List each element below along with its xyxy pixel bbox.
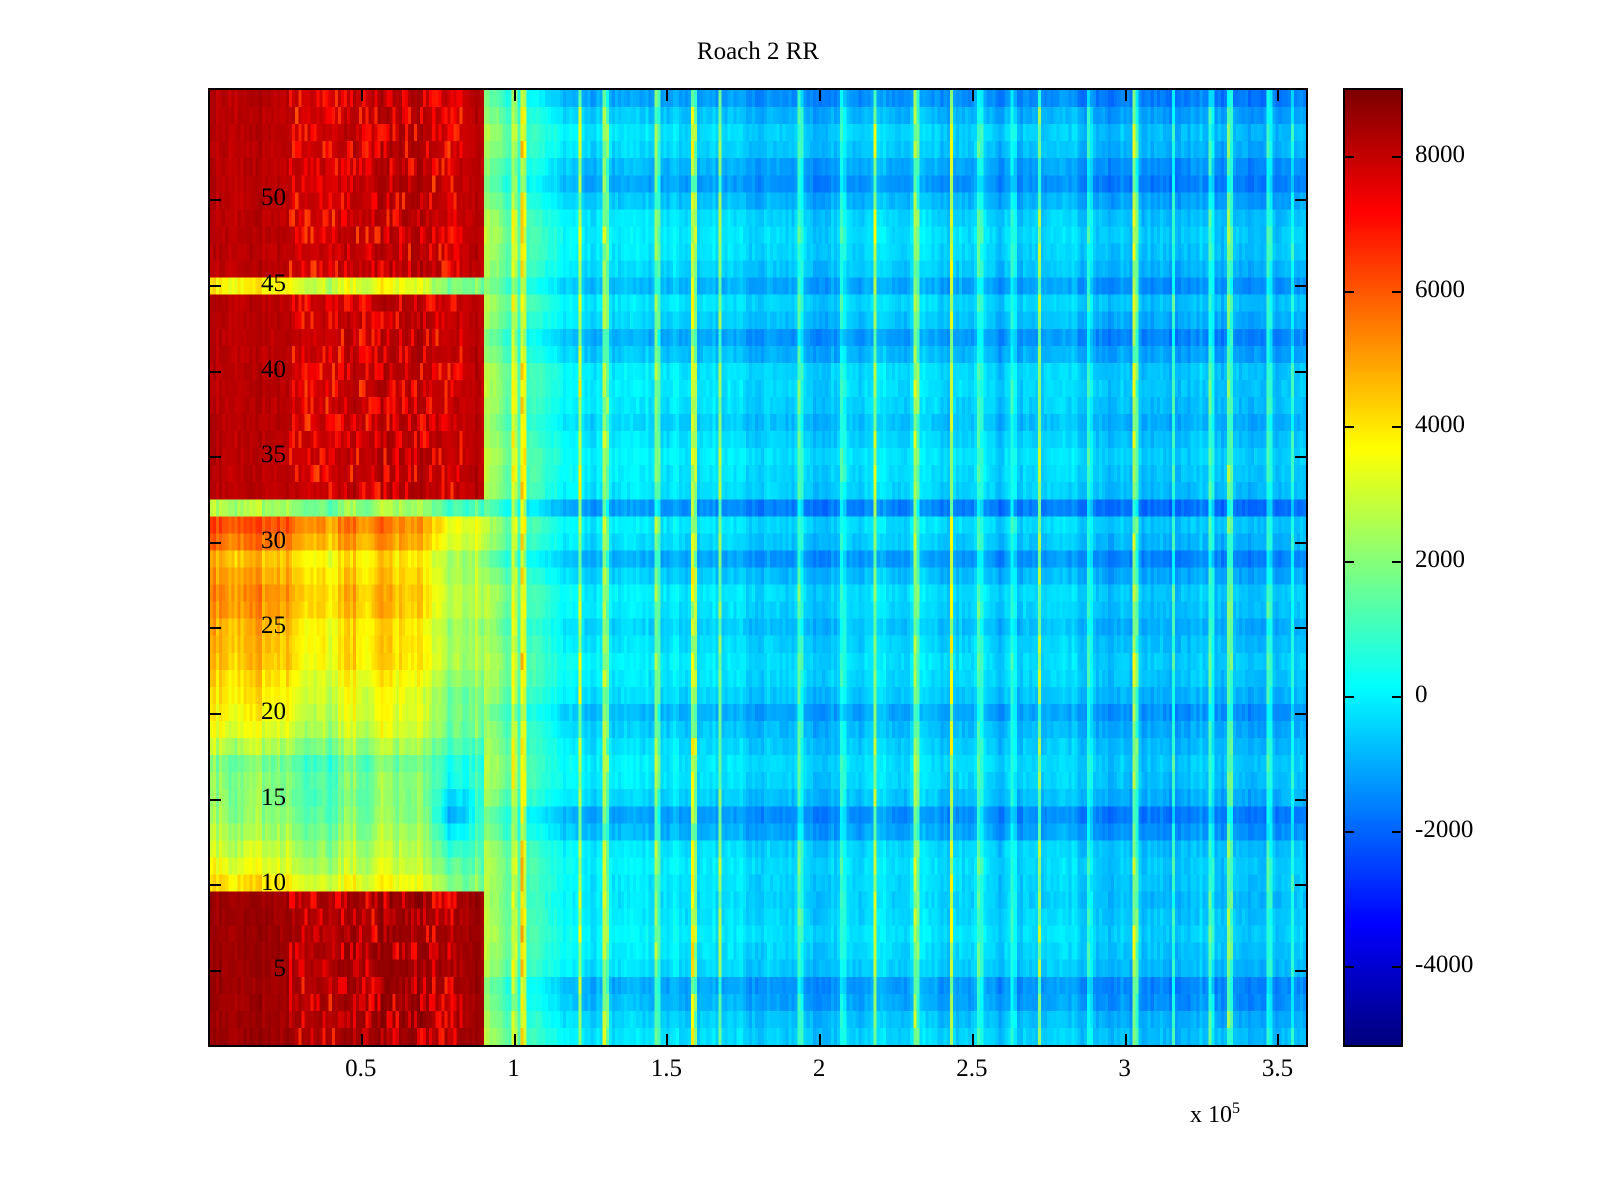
y-axis-tick-label: 35 [166, 442, 286, 467]
colorbar-tick-right [1392, 561, 1403, 563]
colorbar-tick-label: 8000 [1415, 142, 1465, 167]
matlab-figure-canvas: Roach 2 RR 51015202530354045500.511.522.… [0, 0, 1600, 1200]
heatmap-pixels [210, 90, 1306, 1045]
colorbar-gradient [1345, 90, 1401, 1045]
colorbar-tick [1343, 291, 1354, 293]
y-axis-tick-right [1295, 627, 1308, 629]
x-axis-tick-top [819, 88, 821, 101]
x-axis-tick-label: 2.5 [912, 1056, 1032, 1081]
x-axis-tick-label: 3.5 [1217, 1056, 1337, 1081]
colorbar-tick-label: -2000 [1415, 817, 1473, 842]
y-axis-tick-right [1295, 713, 1308, 715]
colorbar-tick-right [1392, 831, 1403, 833]
y-axis-tick-label: 25 [166, 613, 286, 638]
y-axis-tick-label: 10 [166, 870, 286, 895]
x-axis-tick [514, 1034, 516, 1047]
colorbar-tick-right [1392, 156, 1403, 158]
y-axis-tick-right [1295, 970, 1308, 972]
y-axis-tick-label: 30 [166, 528, 286, 553]
x-axis-tick-label: 1.5 [606, 1056, 726, 1081]
colorbar-tick [1343, 426, 1354, 428]
x-axis-tick-top [514, 88, 516, 101]
colorbar-tick [1343, 156, 1354, 158]
x-axis-tick [819, 1034, 821, 1047]
x-axis-tick-label: 0.5 [301, 1056, 421, 1081]
y-axis-tick-label: 5 [166, 956, 286, 981]
heatmap-image[interactable] [210, 90, 1306, 1045]
heatmap-axes[interactable] [208, 88, 1308, 1047]
x-axis-tick-top [361, 88, 363, 101]
y-axis-tick-label: 50 [166, 185, 286, 210]
y-axis-tick-right [1295, 542, 1308, 544]
colorbar-tick-right [1392, 966, 1403, 968]
x-axis-tick [1125, 1034, 1127, 1047]
y-axis-tick-right [1295, 371, 1308, 373]
y-axis-tick-right [1295, 285, 1308, 287]
x-exponent-base: x 10 [1190, 1102, 1232, 1128]
y-axis-tick-right [1295, 884, 1308, 886]
y-axis-tick-label: 20 [166, 699, 286, 724]
colorbar-tick-label: 4000 [1415, 412, 1465, 437]
page-title: Roach 2 RR [208, 38, 1308, 66]
colorbar-tick-right [1392, 291, 1403, 293]
x-exponent-power: 5 [1232, 1100, 1240, 1117]
x-axis-tick-top [666, 88, 668, 101]
colorbar-tick-label: 0 [1415, 682, 1428, 707]
colorbar-tick-right [1392, 426, 1403, 428]
colorbar-tick [1343, 696, 1354, 698]
x-axis-tick-top [1125, 88, 1127, 101]
x-axis-tick-top [972, 88, 974, 101]
colorbar[interactable] [1343, 88, 1403, 1047]
x-axis-tick [972, 1034, 974, 1047]
x-axis-tick-label: 1 [454, 1056, 574, 1081]
colorbar-tick [1343, 561, 1354, 563]
y-axis-tick-right [1295, 456, 1308, 458]
x-axis-tick-label: 2 [759, 1056, 879, 1081]
colorbar-tick-label: -4000 [1415, 952, 1473, 977]
x-axis-tick-label: 3 [1065, 1056, 1185, 1081]
y-axis-tick-right [1295, 799, 1308, 801]
y-axis-tick-label: 45 [166, 271, 286, 296]
colorbar-tick [1343, 831, 1354, 833]
colorbar-tick-right [1392, 696, 1403, 698]
x-axis-exponent-label: x 105 [1190, 1100, 1240, 1129]
y-axis-tick-label: 40 [166, 357, 286, 382]
y-axis-tick-right [1295, 199, 1308, 201]
y-axis-tick-label: 15 [166, 785, 286, 810]
x-axis-tick [361, 1034, 363, 1047]
colorbar-tick-label: 6000 [1415, 277, 1465, 302]
colorbar-tick [1343, 966, 1354, 968]
x-axis-tick [666, 1034, 668, 1047]
colorbar-tick-label: 2000 [1415, 547, 1465, 572]
x-axis-tick [1277, 1034, 1279, 1047]
x-axis-tick-top [1277, 88, 1279, 101]
